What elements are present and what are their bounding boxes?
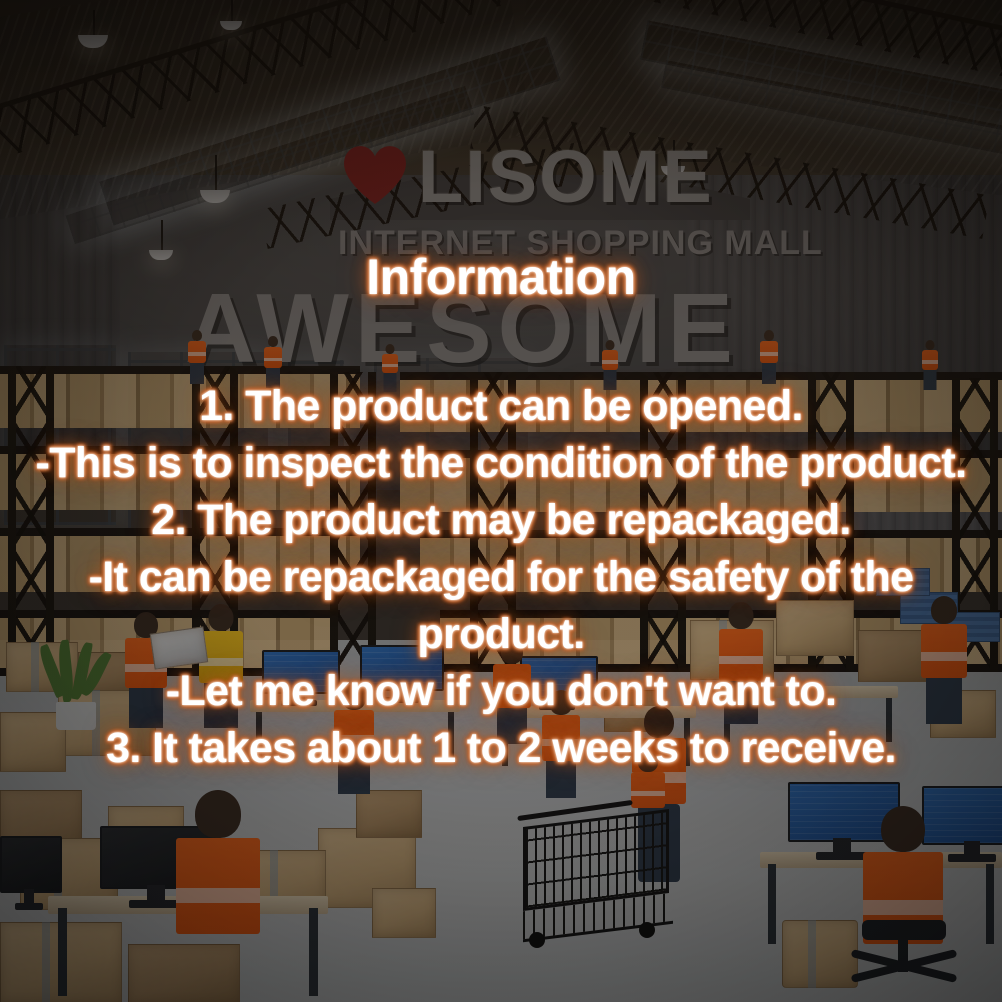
information-list: 1. The product can be opened. -This is t…: [0, 378, 1002, 777]
info-line: -It can be repackaged for the safety of …: [0, 549, 1002, 606]
screenshot-canvas: LISOME INTERNET SHOPPING MALL AWESOME: [0, 0, 1002, 1002]
info-line: 3. It takes about 1 to 2 weeks to receiv…: [0, 720, 1002, 777]
info-line: -Let me know if you don't want to.: [0, 663, 1002, 720]
info-line: -This is to inspect the condition of the…: [0, 435, 1002, 492]
info-line: 2. The product may be repackaged.: [0, 492, 1002, 549]
info-line: 1. The product can be opened.: [0, 378, 1002, 435]
text-overlay: Information 1. The product can be opened…: [0, 0, 1002, 1002]
page-title: Information: [0, 248, 1002, 306]
info-line: product.: [0, 606, 1002, 663]
